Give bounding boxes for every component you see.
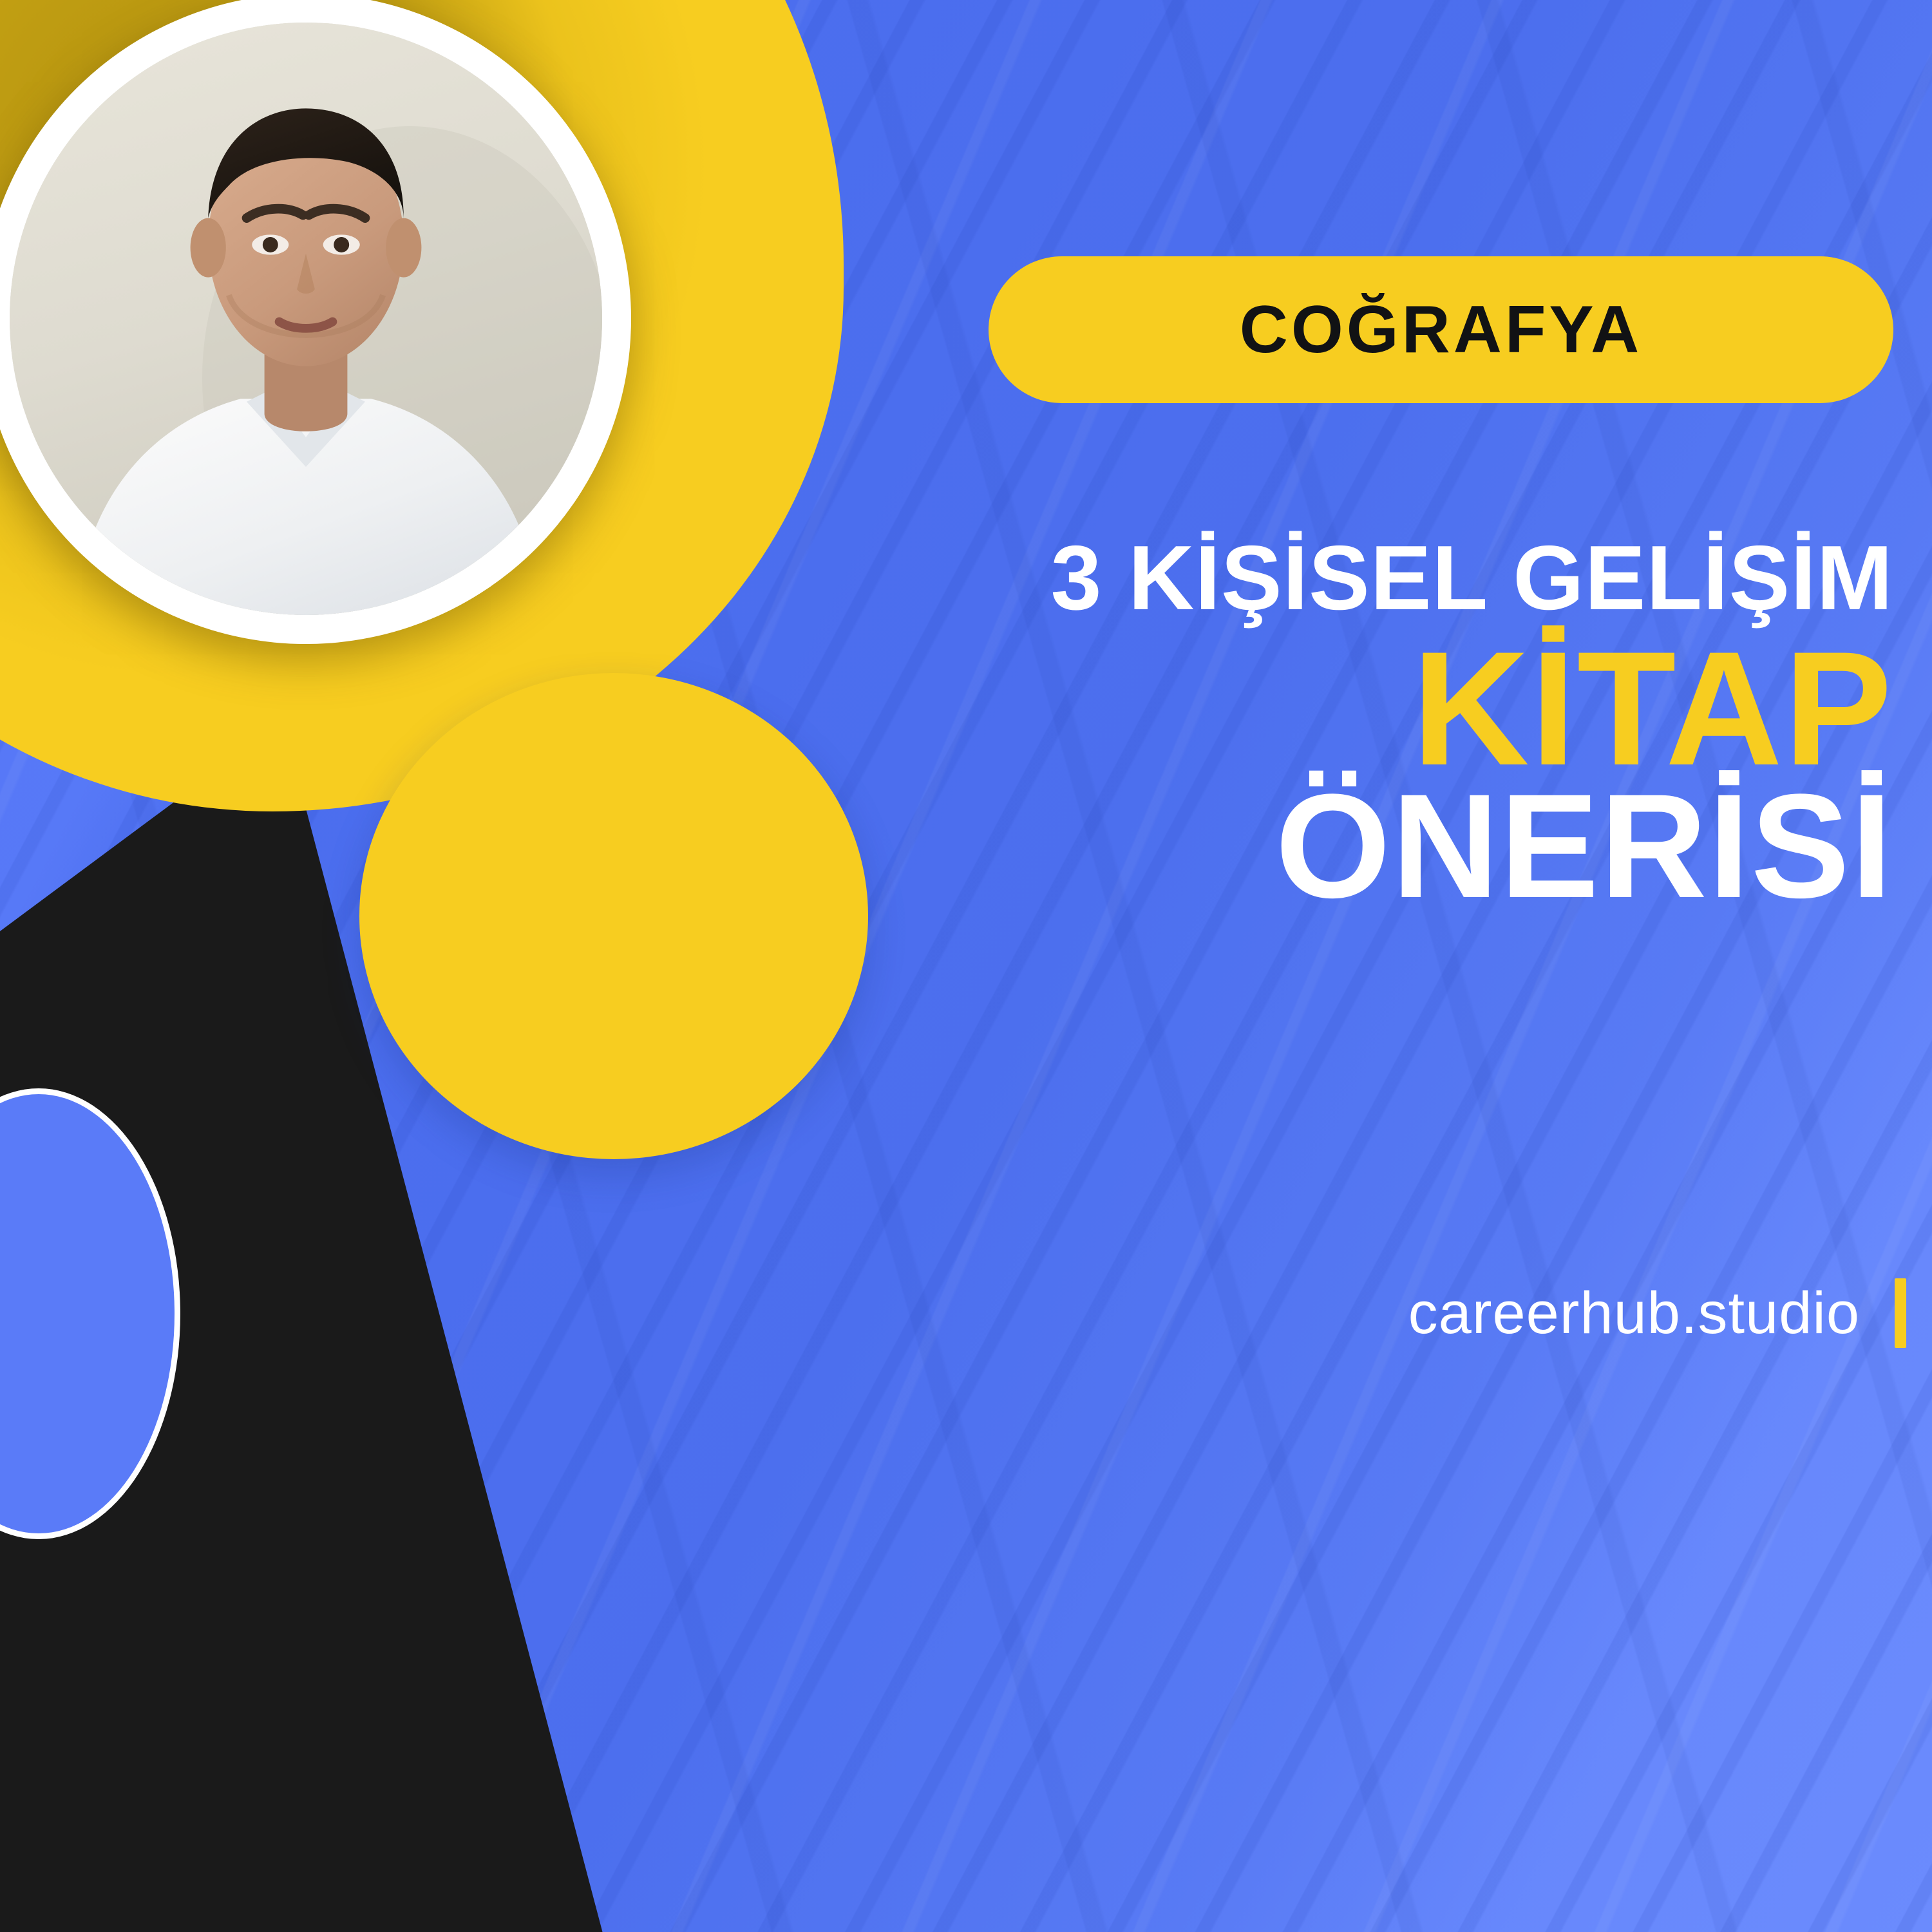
footer: careerhub.studio xyxy=(966,1278,1920,1348)
headline-line-3: ÖNERİSİ xyxy=(966,775,1906,918)
category-badge[interactable]: COĞRAFYA xyxy=(989,256,1893,403)
headline: 3 KİŞİSEL GELİŞİM KİTAP ÖNERİSİ xyxy=(966,535,1906,918)
content-column: COĞRAFYA 3 KİŞİSEL GELİŞİM KİTAP ÖNERİSİ… xyxy=(966,0,1932,1932)
poster-canvas: COĞRAFYA 3 KİŞİSEL GELİŞİM KİTAP ÖNERİSİ… xyxy=(0,0,1932,1932)
accent-bar-icon xyxy=(1895,1278,1906,1348)
website-url[interactable]: careerhub.studio xyxy=(1408,1283,1860,1343)
category-badge-label: COĞRAFYA xyxy=(1240,296,1643,363)
yellow-ellipse xyxy=(359,673,868,1159)
headline-line-1: 3 KİŞİSEL GELİŞİM xyxy=(966,535,1906,622)
avatar-photo xyxy=(10,23,602,615)
avatar xyxy=(0,0,631,644)
